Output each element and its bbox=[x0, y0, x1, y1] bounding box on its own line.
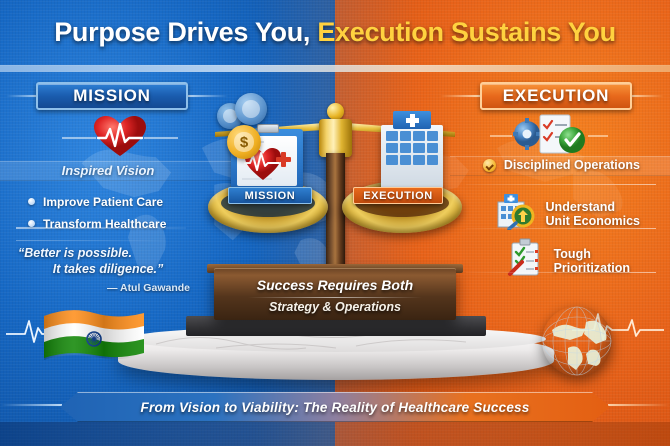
execution-divider-3 bbox=[466, 272, 656, 273]
gear-checklist-approved-icon bbox=[490, 110, 608, 158]
beam-knob bbox=[327, 103, 344, 120]
gear-icon-medium bbox=[235, 93, 267, 125]
mission-bullet-label: Improve Patient Care bbox=[43, 195, 163, 209]
list-item: Disciplined Operations bbox=[483, 158, 640, 172]
hospital-windows bbox=[386, 131, 438, 165]
gear-dollar-icon bbox=[227, 125, 261, 159]
list-item: Transform Healthcare bbox=[28, 214, 228, 233]
execution-item-label: Disciplined Operations bbox=[504, 158, 640, 172]
quote-attribution: — Atul Gawande bbox=[18, 282, 190, 294]
india-flag-icon bbox=[42, 306, 146, 368]
ribbon-rule-right bbox=[608, 404, 670, 406]
mission-divider-2 bbox=[16, 240, 166, 241]
execution-item-label-line1: Understand bbox=[546, 200, 615, 214]
execution-item-label-line2: Unit Economics bbox=[546, 214, 640, 228]
title-part-1: Purpose Drives You, bbox=[54, 17, 310, 47]
title-part-2: Execution Sustains You bbox=[317, 17, 615, 47]
mission-subtitle: Inspired Vision bbox=[20, 163, 196, 178]
pan-tag-mission: MISSION bbox=[228, 187, 312, 204]
mission-heading: MISSION bbox=[36, 82, 188, 110]
footer-fade bbox=[0, 422, 670, 446]
page-title: Purpose Drives You, Execution Sustains Y… bbox=[0, 17, 670, 48]
execution-divider-1 bbox=[466, 184, 656, 185]
execution-heading: EXECUTION bbox=[480, 82, 632, 110]
pan-tag-execution: EXECUTION bbox=[353, 187, 443, 204]
hospital-gears-dollar-icon bbox=[381, 125, 443, 189]
plaque-separator bbox=[248, 297, 422, 298]
execution-item-label: Tough Prioritization bbox=[554, 247, 630, 275]
execution-divider-2 bbox=[466, 228, 656, 229]
clipboard-checklist-icon bbox=[506, 238, 546, 283]
scale-column bbox=[326, 153, 345, 275]
mission-divider bbox=[16, 227, 186, 229]
bullet-dot-icon bbox=[28, 220, 35, 227]
beam-hub bbox=[319, 119, 352, 157]
execution-item-label: Understand Unit Economics bbox=[546, 200, 640, 228]
quote-line-2: It takes diligence.” bbox=[18, 261, 198, 277]
execution-item-label-line1: Tough bbox=[554, 247, 591, 261]
list-item: Improve Patient Care bbox=[28, 192, 228, 211]
plaque: Success Requires Both Strategy & Operati… bbox=[214, 268, 456, 320]
hospital-cross-h bbox=[406, 118, 419, 123]
ribbon-rule-left bbox=[0, 404, 62, 406]
mission-quote: “Better is possible. It takes diligence.… bbox=[18, 245, 198, 277]
bullet-dot-icon bbox=[28, 198, 35, 205]
heart-ecg-icon bbox=[60, 112, 180, 160]
plaque-line-1: Success Requires Both bbox=[214, 277, 456, 293]
footer-ribbon: From Vision to Viability: The Reality of… bbox=[60, 392, 610, 422]
infographic-poster: Purpose Drives You, Execution Sustains Y… bbox=[0, 0, 670, 446]
plaque-line-2: Strategy & Operations bbox=[214, 300, 456, 314]
list-item: Tough Prioritization bbox=[506, 238, 630, 283]
quote-line-1: “Better is possible. bbox=[18, 245, 198, 261]
footer-ribbon-text: From Vision to Viability: The Reality of… bbox=[141, 400, 530, 415]
mission-bullet-list: Improve Patient Care Transform Healthcar… bbox=[28, 192, 228, 236]
check-badge-icon bbox=[483, 159, 496, 172]
globe-icon bbox=[542, 306, 612, 376]
